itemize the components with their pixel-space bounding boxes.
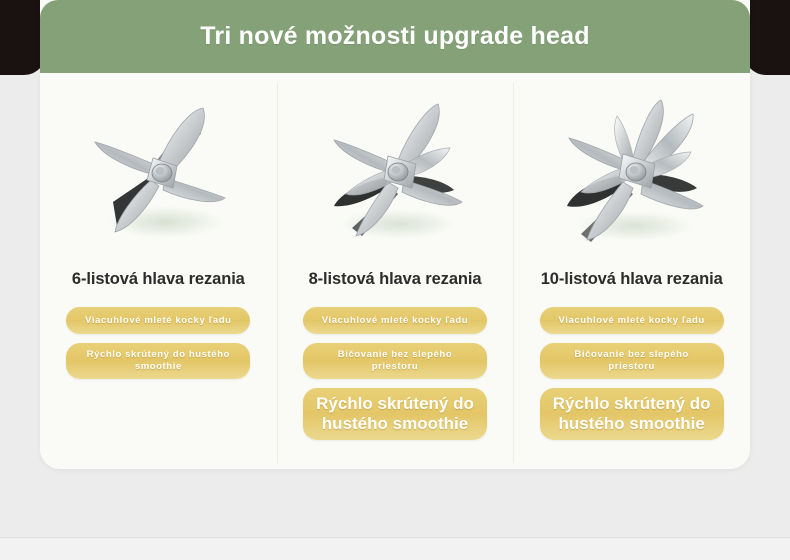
- feature-pill[interactable]: Rýchlo skrútený do hustého smoothie: [66, 343, 250, 379]
- blade-option-column-8[interactable]: 8-listová hlava rezania Viacuhlové mleté…: [277, 73, 514, 469]
- top-right-dark-corner: [744, 0, 790, 75]
- blade-options-row: 6-listová hlava rezania Viacuhlové mleté…: [40, 73, 750, 469]
- blade-option-title-10: 10-listová hlava rezania: [513, 270, 750, 289]
- feature-pill[interactable]: Rýchlo skrútený do hustého smoothie: [540, 388, 724, 440]
- card-banner: Tri nové možnosti upgrade head: [40, 0, 750, 73]
- blade-image-10: [513, 91, 750, 256]
- blade-option-title-6: 6-listová hlava rezania: [40, 270, 277, 289]
- blade-image-6: [40, 91, 277, 256]
- blade-option-pills-10: Viacuhlové mleté kocky ľadu Bičovanie be…: [513, 307, 750, 440]
- feature-pill[interactable]: Bičovanie bez slepého priestoru: [303, 343, 487, 379]
- feature-pill[interactable]: Viacuhlové mleté kocky ľadu: [303, 307, 487, 334]
- feature-pill[interactable]: Viacuhlové mleté kocky ľadu: [540, 307, 724, 334]
- feature-pill[interactable]: Bičovanie bez slepého priestoru: [540, 343, 724, 379]
- feature-pill[interactable]: Rýchlo skrútený do hustého smoothie: [303, 388, 487, 440]
- blade-option-column-10[interactable]: 10-listová hlava rezania Viacuhlové mlet…: [513, 73, 750, 469]
- ten-blade-cutting-head-icon: [547, 94, 717, 254]
- blade-option-pills-6: Viacuhlové mleté kocky ľadu Rýchlo skrút…: [40, 307, 277, 379]
- six-blade-cutting-head-icon: [73, 94, 243, 254]
- blade-image-8: [277, 91, 514, 256]
- eight-blade-cutting-head-icon: [310, 94, 480, 254]
- feature-pill[interactable]: Viacuhlové mleté kocky ľadu: [66, 307, 250, 334]
- page-title: Tri nové možnosti upgrade head: [200, 22, 589, 51]
- blade-option-pills-8: Viacuhlové mleté kocky ľadu Bičovanie be…: [277, 307, 514, 440]
- product-feature-card: Tri nové možnosti upgrade head: [40, 0, 750, 469]
- blade-option-column-6[interactable]: 6-listová hlava rezania Viacuhlové mleté…: [40, 73, 277, 469]
- bottom-band: [0, 538, 790, 560]
- blade-option-title-8: 8-listová hlava rezania: [277, 270, 514, 289]
